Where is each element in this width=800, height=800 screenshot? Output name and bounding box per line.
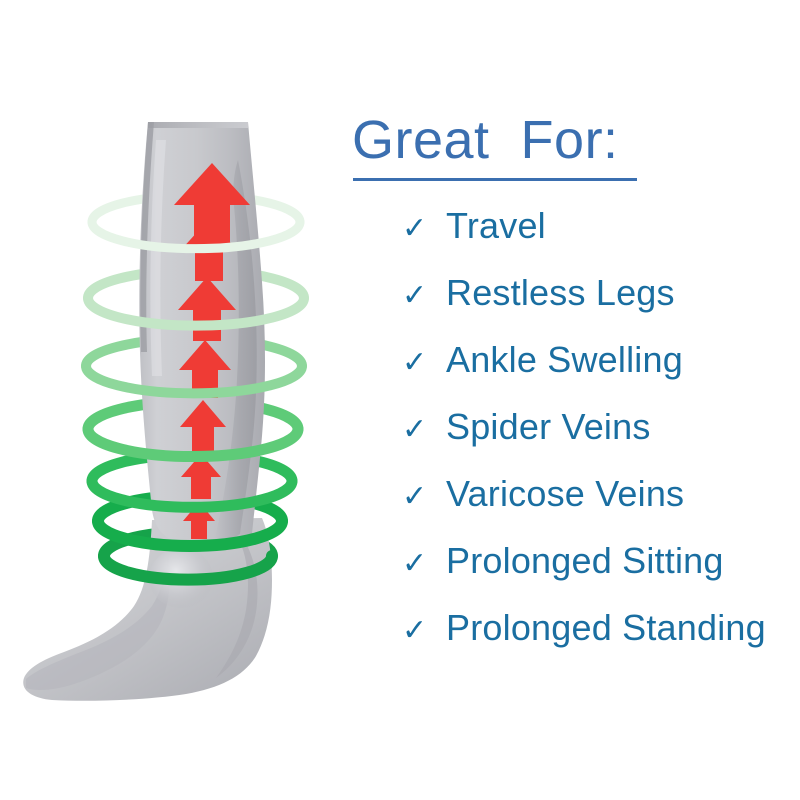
- benefits-list: ✓ Travel ✓ Restless Legs ✓ Ankle Swellin…: [340, 208, 800, 677]
- check-icon: ✓: [340, 549, 446, 579]
- list-item: ✓ Restless Legs: [340, 275, 800, 342]
- list-item-label: Restless Legs: [446, 275, 675, 311]
- list-item-label: Ankle Swelling: [446, 342, 683, 378]
- list-item-label: Varicose Veins: [446, 476, 684, 512]
- list-item-label: Spider Veins: [446, 409, 651, 445]
- list-item-label: Prolonged Sitting: [446, 543, 724, 579]
- list-item: ✓ Prolonged Standing: [340, 610, 800, 677]
- check-icon: ✓: [340, 482, 446, 512]
- list-item: ✓ Ankle Swelling: [340, 342, 800, 409]
- check-icon: ✓: [340, 415, 446, 445]
- check-icon: ✓: [340, 214, 446, 244]
- compression-sock-illustration: [0, 0, 340, 800]
- list-item: ✓ Travel: [340, 208, 800, 275]
- poster-canvas: Great For: ✓ Travel ✓ Restless Legs ✓ An…: [0, 0, 800, 800]
- list-item-label: Travel: [446, 208, 546, 244]
- list-item-label: Prolonged Standing: [446, 610, 766, 646]
- check-icon: ✓: [340, 281, 446, 311]
- benefits-text-panel: Great For: ✓ Travel ✓ Restless Legs ✓ An…: [340, 0, 800, 800]
- list-item: ✓ Varicose Veins: [340, 476, 800, 543]
- title-underline: [353, 178, 637, 181]
- check-icon: ✓: [340, 616, 446, 646]
- check-icon: ✓: [340, 348, 446, 378]
- page-title: Great For:: [352, 112, 619, 169]
- list-item: ✓ Spider Veins: [340, 409, 800, 476]
- list-item: ✓ Prolonged Sitting: [340, 543, 800, 610]
